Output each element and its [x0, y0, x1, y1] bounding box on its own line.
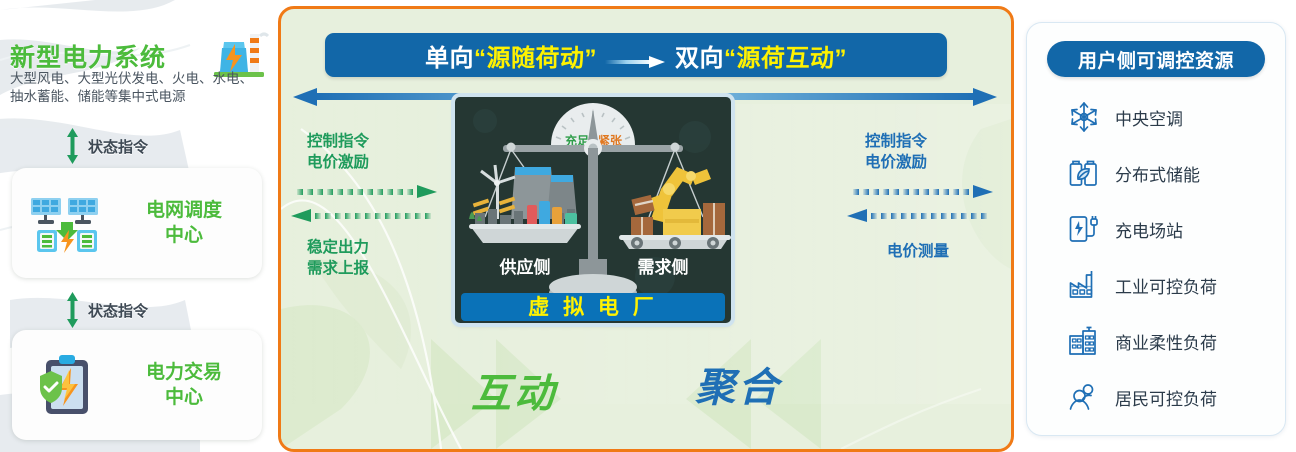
left-flow-bottom-label: 稳定出力 需求上报 [307, 237, 369, 279]
left-flow-top-label: 控制指令 电价激励 [307, 131, 369, 173]
list-item[interactable]: 分布式储能 [1027, 145, 1285, 201]
right-flow-top-label: 控制指令 电价激励 [865, 131, 927, 173]
pan-label-supply: 供应侧 [499, 257, 551, 277]
card-label-grid-dispatch: 电网调度 中心 [106, 198, 262, 248]
state-command-label: 状态指令 [88, 300, 148, 321]
ev-charger-icon [1067, 212, 1101, 246]
list-item-label: 中央空调 [1115, 105, 1183, 130]
banner-quote-1: “源随荷动” [474, 38, 597, 73]
factory-icon [1067, 268, 1101, 302]
snowflake-icon [1067, 100, 1101, 134]
list-item-label: 充电场站 [1115, 217, 1183, 242]
calligraphy-aggregation: 聚合 [695, 355, 781, 413]
title-banner: 单向 “源随荷动” 双向 “源荷互动” [325, 33, 947, 77]
state-command-row-bottom: 状态指令 [66, 292, 148, 328]
dotted-left-arrow-icon [291, 209, 431, 222]
banner-part-1: 单向 [425, 38, 474, 73]
center-panel: 单向 “源随荷动” 双向 “源荷互动” [278, 6, 1014, 452]
clipboard-shield-bolt-icon [28, 354, 106, 416]
banner-quote-2: “源荷互动” [724, 38, 847, 73]
people-icon [1067, 380, 1101, 414]
dotted-right-arrow-icon [853, 185, 993, 198]
card-grid-dispatch-center[interactable]: 电网调度 中心 [12, 168, 262, 278]
pan-label-demand: 需求侧 [638, 257, 689, 277]
solar-battery-icon [28, 192, 106, 254]
banner-part-2: 双向 [675, 38, 724, 73]
system-title: 新型电力系统 [10, 38, 200, 74]
state-command-row-top: 状态指令 [66, 128, 148, 164]
calligraphy-interaction: 互动 [471, 361, 557, 419]
list-item-label: 居民可控负荷 [1115, 385, 1217, 410]
panel-title-pill: 用户侧可调控资源 [1047, 41, 1265, 77]
card-label-power-trading: 电力交易 中心 [106, 360, 262, 410]
dotted-right-arrow-icon [297, 185, 437, 198]
list-item[interactable]: 工业可控负荷 [1027, 257, 1285, 313]
list-item[interactable]: 商业柔性负荷 [1027, 313, 1285, 369]
list-item[interactable]: 中央空调 [1027, 89, 1285, 145]
battery-leaf-icon [1067, 156, 1101, 190]
long-right-arrow-icon [605, 48, 667, 62]
diagram-root: 新型电力系统 大型风电、大型光伏发电、火电、水电、抽水蓄能、储能等集中式电源 [0, 0, 1296, 452]
list-item-label: 工业可控负荷 [1115, 273, 1217, 298]
list-item-label: 商业柔性负荷 [1115, 329, 1217, 354]
virtual-power-plant-illustration: 充足 紧张 [455, 97, 731, 323]
vpp-caption: 虚 拟 电 厂 [528, 295, 658, 319]
list-item-label: 分布式储能 [1115, 161, 1200, 186]
dotted-left-arrow-icon [847, 209, 987, 222]
list-item[interactable]: 居民可控负荷 [1027, 369, 1285, 425]
list-item[interactable]: 充电场站 [1027, 201, 1285, 257]
double-arrow-vertical-icon [66, 128, 79, 164]
panel-title-text: 用户侧可调控资源 [1078, 46, 1234, 73]
left-column: 新型电力系统 大型风电、大型光伏发电、火电、水电、抽水蓄能、储能等集中式电源 [0, 0, 276, 452]
title-banner-text: 单向 “源随荷动” 双向 “源荷互动” [425, 38, 847, 73]
system-description: 大型风电、大型光伏发电、火电、水电、抽水蓄能、储能等集中式电源 [10, 70, 260, 106]
card-power-trading-center[interactable]: 电力交易 中心 [12, 330, 262, 440]
double-arrow-vertical-icon [66, 292, 79, 328]
commercial-building-icon [1067, 324, 1101, 358]
user-side-resources-panel: 用户侧可调控资源 中央空调 [1026, 22, 1286, 436]
right-flow-bottom-label: 电价测量 [887, 241, 949, 262]
resource-list: 中央空调 分布式储能 [1027, 89, 1285, 425]
state-command-label: 状态指令 [88, 136, 148, 157]
